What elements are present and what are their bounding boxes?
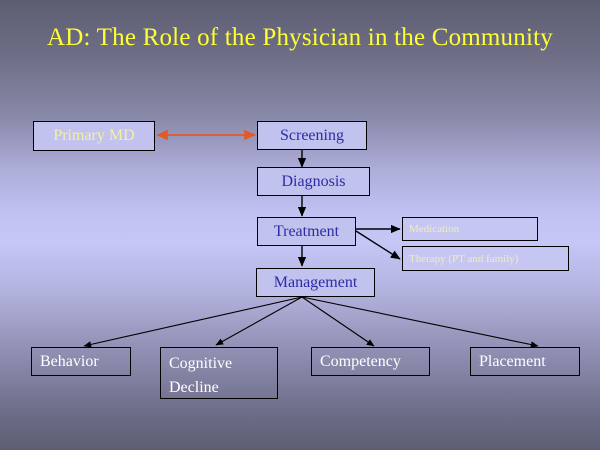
- node-diagnosis[interactable]: Diagnosis: [257, 167, 370, 196]
- node-screening[interactable]: Screening: [257, 121, 367, 150]
- node-behavior[interactable]: Behavior: [31, 347, 131, 376]
- node-behavior-label: Behavior: [40, 350, 130, 374]
- node-competency[interactable]: Competency: [311, 347, 430, 376]
- node-management[interactable]: Management: [256, 268, 375, 297]
- arrow-management-behavior: [84, 297, 302, 346]
- node-diagnosis-label: Diagnosis: [258, 173, 369, 191]
- node-primary-md-label: Primary MD: [34, 127, 154, 145]
- arrow-treatment-therapy: [356, 231, 400, 259]
- arrow-management-cognitive-decline: [216, 297, 302, 345]
- node-medication-label: Medication: [409, 223, 537, 235]
- node-treatment[interactable]: Treatment: [257, 217, 356, 246]
- arrow-management-competency: [302, 297, 374, 346]
- node-medication[interactable]: Medication: [402, 217, 538, 241]
- node-cognitive-decline[interactable]: Cognitive Decline: [160, 347, 278, 399]
- node-therapy[interactable]: Therapy (PT and family): [402, 246, 569, 271]
- node-placement-label: Placement: [479, 350, 579, 374]
- node-treatment-label: Treatment: [258, 223, 355, 241]
- node-placement[interactable]: Placement: [470, 347, 580, 376]
- arrow-management-placement: [302, 297, 538, 346]
- slide-canvas: AD: The Role of the Physician in the Com…: [0, 0, 600, 450]
- node-screening-label: Screening: [258, 127, 366, 145]
- node-therapy-label: Therapy (PT and family): [409, 253, 568, 265]
- node-management-label: Management: [257, 274, 374, 292]
- page-title: AD: The Role of the Physician in the Com…: [0, 22, 600, 54]
- node-cognitive-decline-label: Cognitive Decline: [169, 352, 277, 400]
- node-competency-label: Competency: [320, 350, 429, 374]
- node-primary-md[interactable]: Primary MD: [33, 121, 155, 151]
